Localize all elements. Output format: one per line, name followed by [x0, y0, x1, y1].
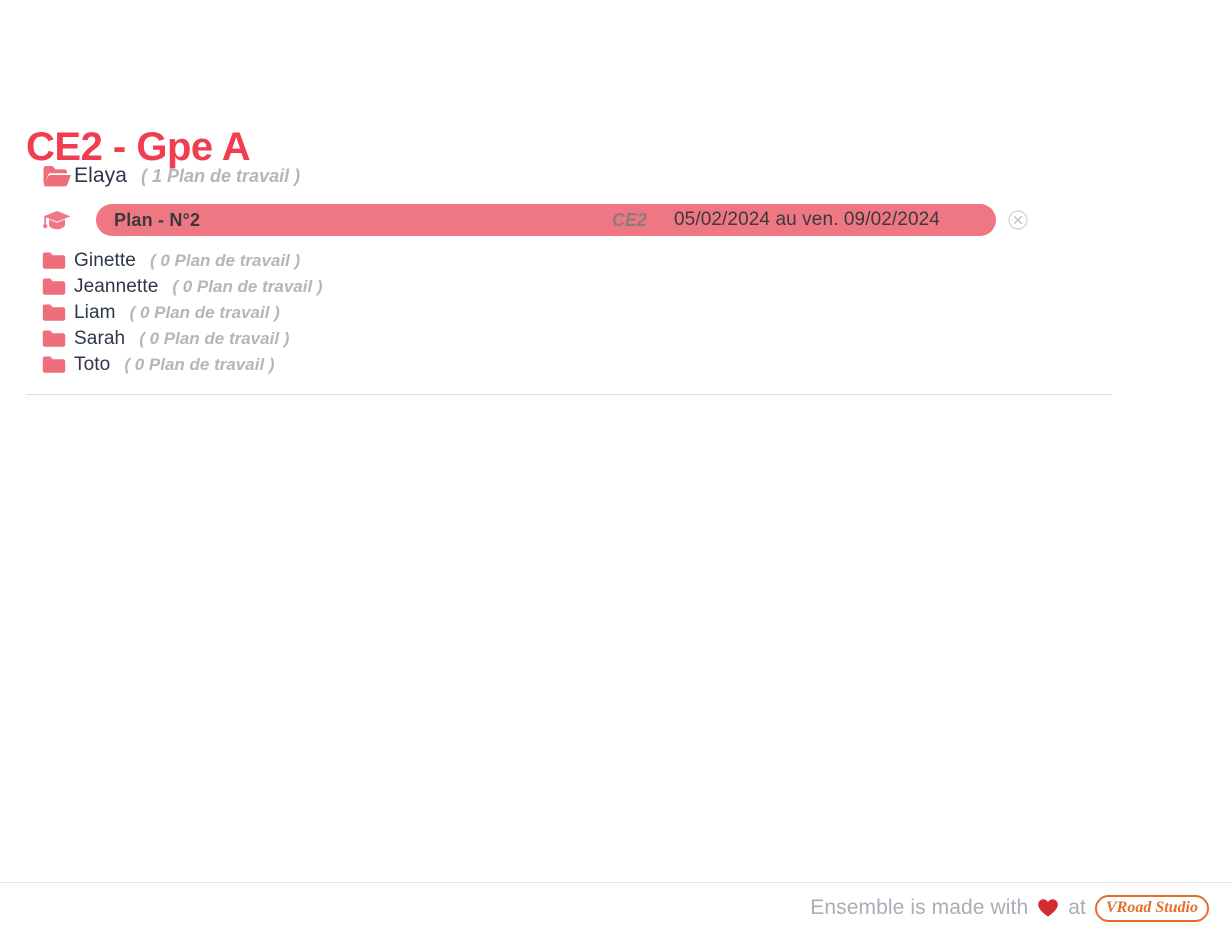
student-name: Jeannette: [74, 276, 158, 298]
close-circle-icon[interactable]: [1008, 210, 1028, 230]
plan-count-label: ( 0 Plan de travail ): [139, 329, 289, 349]
plan-row: Plan - N°2 CE2 05/02/2024 au ven. 09/02/…: [26, 202, 1112, 238]
student-name: Toto: [74, 354, 110, 376]
folder-closed-icon[interactable]: [26, 355, 74, 375]
graduation-cap-icon: [26, 208, 96, 232]
student-name: Ginette: [74, 250, 136, 272]
list-item[interactable]: Elaya ( 1 Plan de travail ): [26, 160, 1112, 192]
list-item[interactable]: Jeannette ( 0 Plan de travail ): [26, 274, 1112, 300]
footer-text-after: at: [1068, 896, 1086, 920]
student-tree-card: Elaya ( 1 Plan de travail ) Plan - N°2 C…: [26, 160, 1112, 395]
plan-pill[interactable]: Plan - N°2 CE2 05/02/2024 au ven. 09/02/…: [96, 204, 996, 236]
page-footer: Ensemble is made with at VRoad Studio: [0, 882, 1231, 933]
plan-count-label: ( 1 Plan de travail ): [141, 166, 300, 187]
student-name: Sarah: [74, 328, 125, 350]
plan-date-range: 05/02/2024 au ven. 09/02/2024: [674, 209, 940, 231]
plan-title: Plan - N°2: [114, 210, 200, 231]
list-item[interactable]: Ginette ( 0 Plan de travail ): [26, 248, 1112, 274]
app-page: CE2 - Gpe A Elaya ( 1 Plan de travail ): [0, 0, 1231, 933]
plan-count-label: ( 0 Plan de travail ): [150, 251, 300, 271]
list-item[interactable]: Liam ( 0 Plan de travail ): [26, 300, 1112, 326]
studio-badge[interactable]: VRoad Studio: [1095, 895, 1209, 922]
plan-level-badge: CE2: [612, 210, 647, 231]
student-name: Liam: [74, 302, 116, 324]
student-name: Elaya: [74, 164, 127, 188]
list-item[interactable]: Sarah ( 0 Plan de travail ): [26, 326, 1112, 352]
list-item[interactable]: Toto ( 0 Plan de travail ): [26, 352, 1112, 378]
footer-credit: Ensemble is made with at VRoad Studio: [810, 895, 1209, 922]
folder-closed-icon[interactable]: [26, 303, 74, 323]
plan-count-label: ( 0 Plan de travail ): [130, 303, 280, 323]
heart-icon: [1037, 898, 1059, 918]
plan-count-label: ( 0 Plan de travail ): [124, 355, 274, 375]
folder-closed-icon[interactable]: [26, 277, 74, 297]
folder-closed-icon[interactable]: [26, 329, 74, 349]
footer-text-before: Ensemble is made with: [810, 896, 1028, 920]
plan-count-label: ( 0 Plan de travail ): [172, 277, 322, 297]
folder-open-icon[interactable]: [26, 164, 74, 188]
folder-closed-icon[interactable]: [26, 251, 74, 271]
